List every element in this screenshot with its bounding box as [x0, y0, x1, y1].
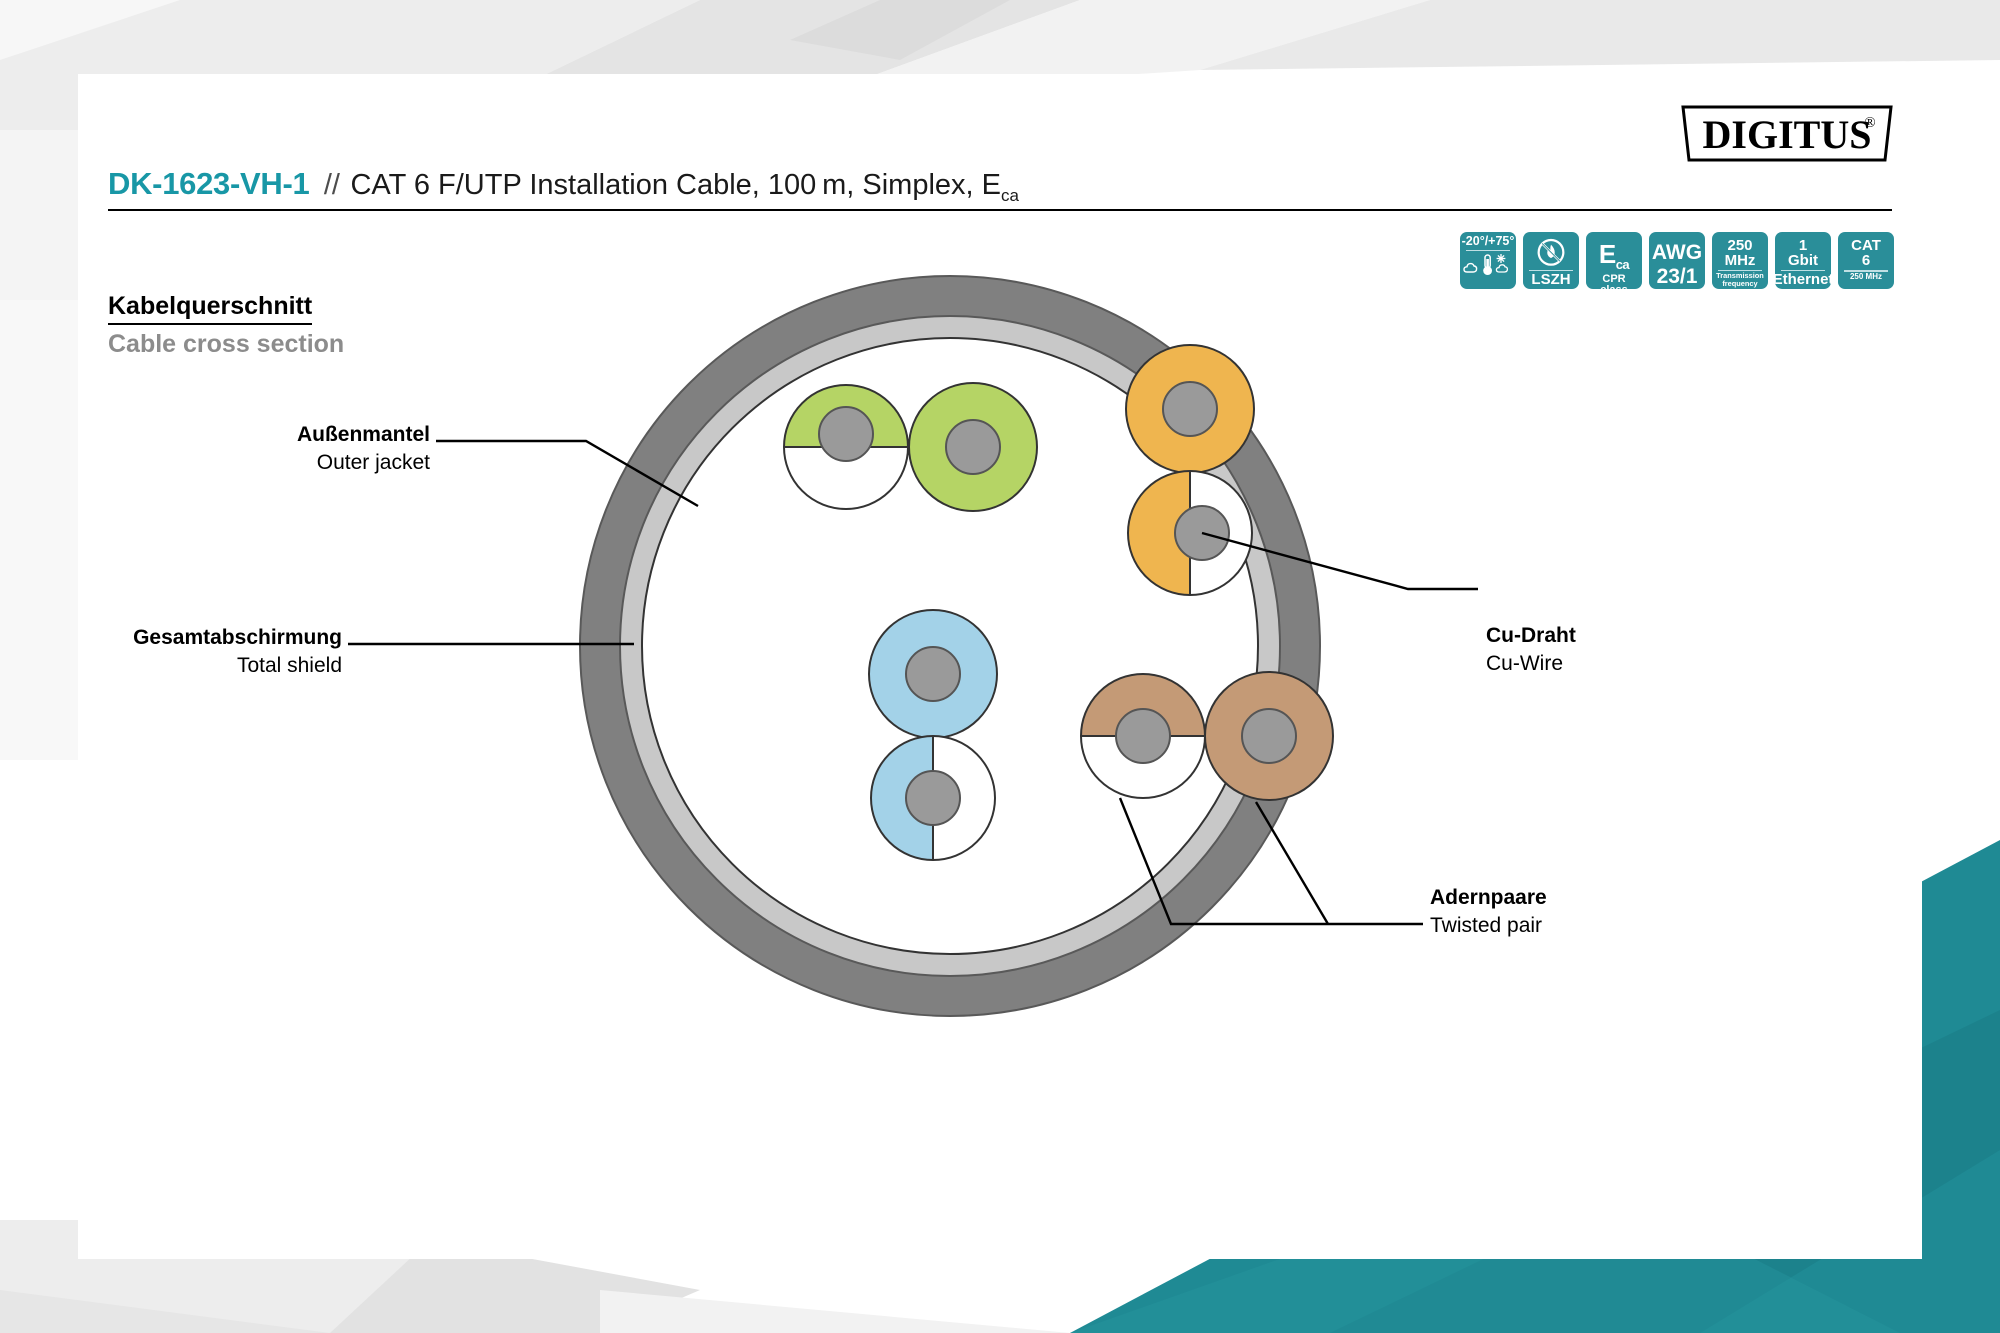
- callout-cu-wire: Cu-Draht Cu-Wire: [1486, 624, 1576, 675]
- product-sku: DK-1623-VH-1: [108, 166, 309, 201]
- wire-green-solid: [909, 383, 1037, 511]
- wire-blue-white-striped: [871, 736, 995, 860]
- callout-total-shield-en: Total shield: [237, 654, 342, 677]
- callout-twisted-pair-en: Twisted pair: [1430, 914, 1542, 937]
- callout-total-shield-de: Gesamtabschirmung: [133, 626, 342, 649]
- cu-wire-core: [1163, 382, 1217, 436]
- callout-cu-wire-en: Cu-Wire: [1486, 652, 1563, 675]
- product-title-bar: DK-1623-VH-1 // CAT 6 F/UTP Installation…: [108, 166, 1892, 211]
- callout-outer-jacket: Außenmantel Outer jacket: [297, 423, 430, 474]
- logo-svg: DIGITUS ®: [1680, 102, 1894, 164]
- wire-orange-solid: [1126, 345, 1254, 473]
- cu-wire-core: [906, 647, 960, 701]
- cu-wire-core: [1242, 709, 1296, 763]
- wire-brown-white-striped: [1081, 674, 1205, 798]
- callout-cu-wire-de: Cu-Draht: [1486, 624, 1576, 647]
- product-description-subscript: ca: [1001, 186, 1019, 205]
- logo-wordmark: DIGITUS: [1703, 112, 1872, 157]
- wire-green-white-striped: [784, 385, 908, 509]
- datasheet-page: DIGITUS ® DK-1623-VH-1 // CAT 6 F/UTP In…: [78, 74, 1922, 1259]
- product-description-text: CAT 6 F/UTP Installation Cable, 100 m, S…: [350, 169, 1001, 201]
- callout-total-shield: Gesamtabschirmung Total shield: [133, 626, 342, 677]
- wire-blue-solid: [869, 610, 997, 738]
- registered-trademark-icon: ®: [1864, 115, 1875, 131]
- cu-wire-core: [1116, 709, 1170, 763]
- cu-wire-core: [906, 771, 960, 825]
- wire-brown-solid: [1205, 672, 1333, 800]
- cu-wire-core: [819, 407, 873, 461]
- cable-cross-section-diagram: Außenmantel Outer jacket Gesamtabschirmu…: [78, 244, 1922, 1144]
- callout-outer-jacket-de: Außenmantel: [297, 423, 430, 446]
- cross-section-svg: Außenmantel Outer jacket Gesamtabschirmu…: [78, 244, 1922, 1144]
- cu-wire-core: [946, 420, 1000, 474]
- title-separator: //: [314, 169, 346, 201]
- digitus-logo: DIGITUS ®: [1680, 102, 1894, 164]
- leader-twisted-pair-b: [1256, 802, 1328, 924]
- wire-orange-white-striped: [1128, 471, 1252, 595]
- callout-twisted-pair: Adernpaare Twisted pair: [1430, 886, 1547, 937]
- callout-twisted-pair-de: Adernpaare: [1430, 886, 1547, 909]
- callout-outer-jacket-en: Outer jacket: [317, 451, 430, 474]
- product-description: CAT 6 F/UTP Installation Cable, 100 m, S…: [350, 169, 1019, 201]
